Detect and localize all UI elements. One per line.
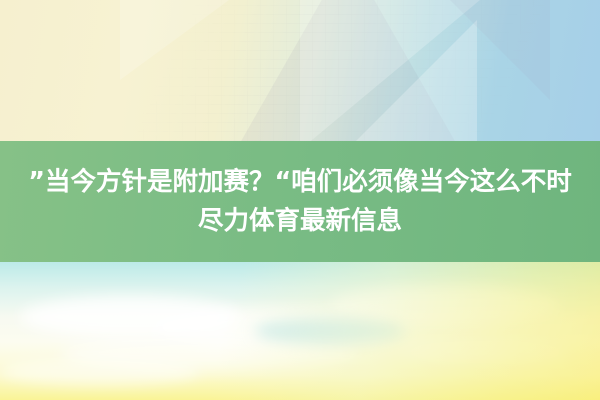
bottom-gradient-section bbox=[0, 262, 600, 400]
bottom-warm-overlay bbox=[0, 262, 600, 400]
top-gradient-section bbox=[0, 0, 600, 141]
decorative-grid-texture bbox=[0, 0, 600, 141]
banner-image: ”当今方针是附加赛？“咱们必须像当今这么不时 尽力体育最新信息 bbox=[0, 0, 600, 400]
headline-text: ”当今方针是附加赛？“咱们必须像当今这么不时 尽力体育最新信息 bbox=[5, 163, 595, 241]
headline-band: ”当今方针是附加赛？“咱们必须像当今这么不时 尽力体育最新信息 bbox=[0, 141, 600, 262]
